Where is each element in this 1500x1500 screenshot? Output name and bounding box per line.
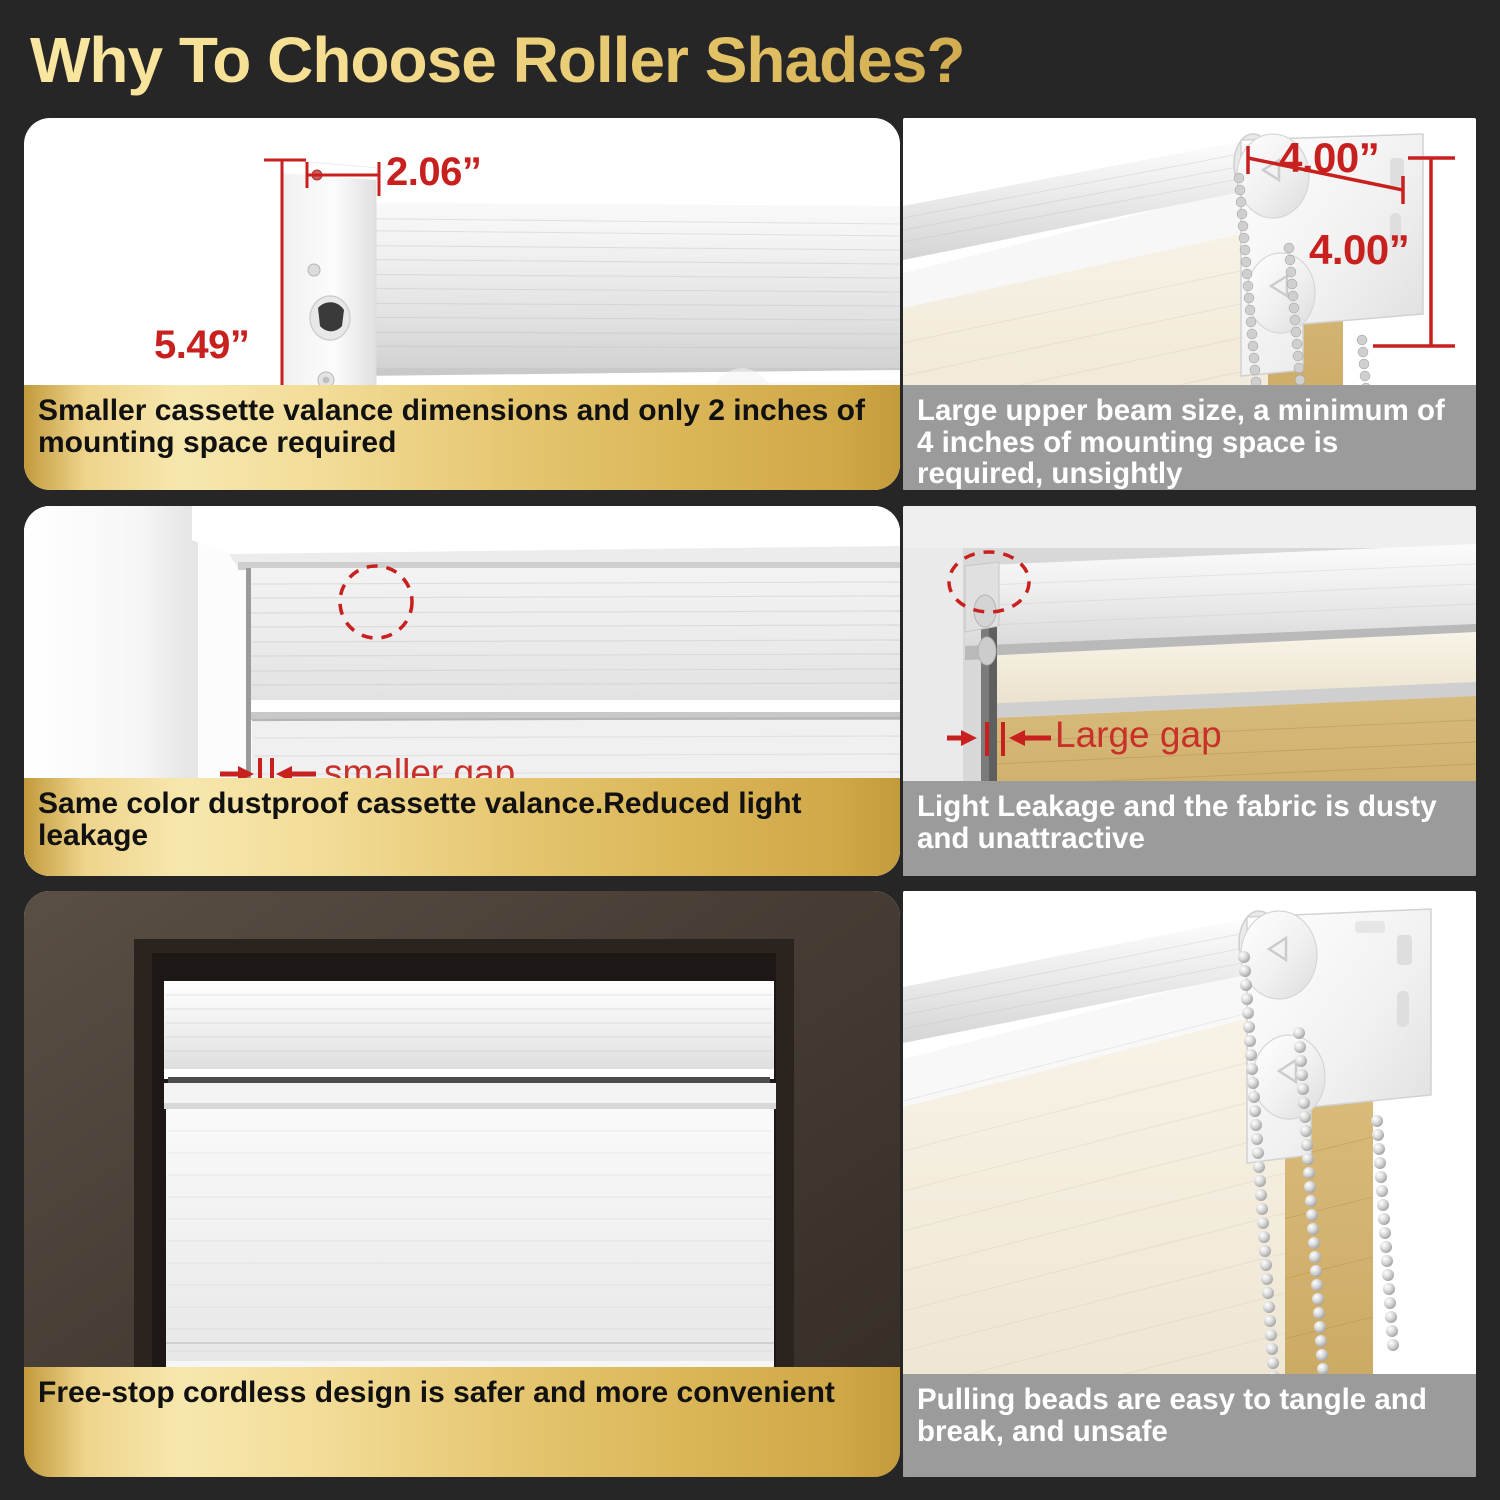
panel-pulling-beads: Pulling beads are easy to tangle and bre… xyxy=(903,891,1476,1477)
panel-cassette-dimensions: 2.06” 5.49” Smaller cassette valance dim… xyxy=(24,118,900,490)
comparison-grid: 2.06” 5.49” Smaller cassette valance dim… xyxy=(0,0,1500,1500)
panel-cordless-design: Free-stop cordless design is safer and m… xyxy=(24,891,900,1477)
panel-caption: Light Leakage and the fabric is dusty an… xyxy=(903,781,1476,876)
panel-caption: Free-stop cordless design is safer and m… xyxy=(24,1367,900,1477)
height-dimension-label: 5.49” xyxy=(154,323,249,368)
panel-large-upper-beam: 4.00” 4.00” Large upper beam size, a min… xyxy=(903,118,1476,490)
width-dimension-label: 4.00” xyxy=(1279,134,1379,182)
panel-caption: Same color dustproof cassette valance.Re… xyxy=(24,778,900,876)
panel-caption: Pulling beads are easy to tangle and bre… xyxy=(903,1374,1476,1477)
gap-annotation-label: Large gap xyxy=(1055,714,1222,756)
width-dimension-label: 2.06” xyxy=(386,150,481,195)
panel-caption: Large upper beam size, a minimum of 4 in… xyxy=(903,385,1476,490)
panel-dustproof-cassette: smaller gap Same color dustproof cassett… xyxy=(24,506,900,876)
panel-caption: Smaller cassette valance dimensions and … xyxy=(24,385,900,490)
panel-light-leakage: Large gap Light Leakage and the fabric i… xyxy=(903,506,1476,876)
height-dimension-label: 4.00” xyxy=(1309,226,1409,274)
